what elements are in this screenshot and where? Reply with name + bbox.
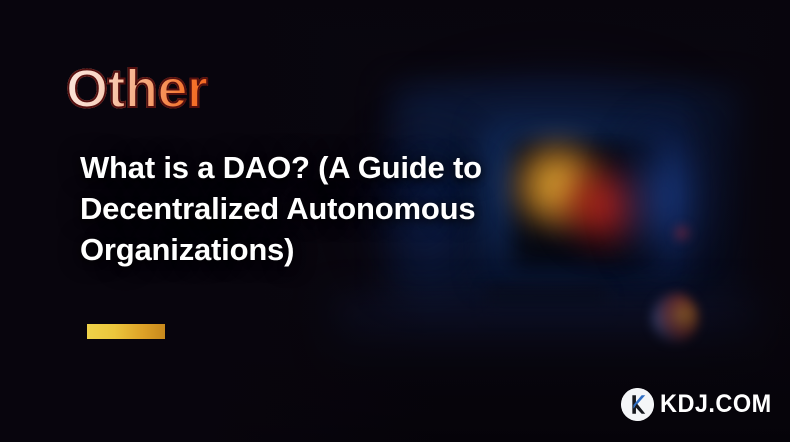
accent-divider-bar xyxy=(87,324,165,339)
logo-wordmark: KDJ.COM xyxy=(660,392,772,417)
page-title: What is a DAO? (A Guide to Decentralized… xyxy=(80,147,620,271)
category-kicker[interactable]: Other xyxy=(66,62,208,116)
article-hero-card: Other What is a DAO? (A Guide to Decentr… xyxy=(0,0,790,442)
hero-content: Other What is a DAO? (A Guide to Decentr… xyxy=(0,0,790,442)
kdj-k-monogram-icon xyxy=(621,388,654,421)
site-logo[interactable]: KDJ.COM xyxy=(621,388,779,421)
